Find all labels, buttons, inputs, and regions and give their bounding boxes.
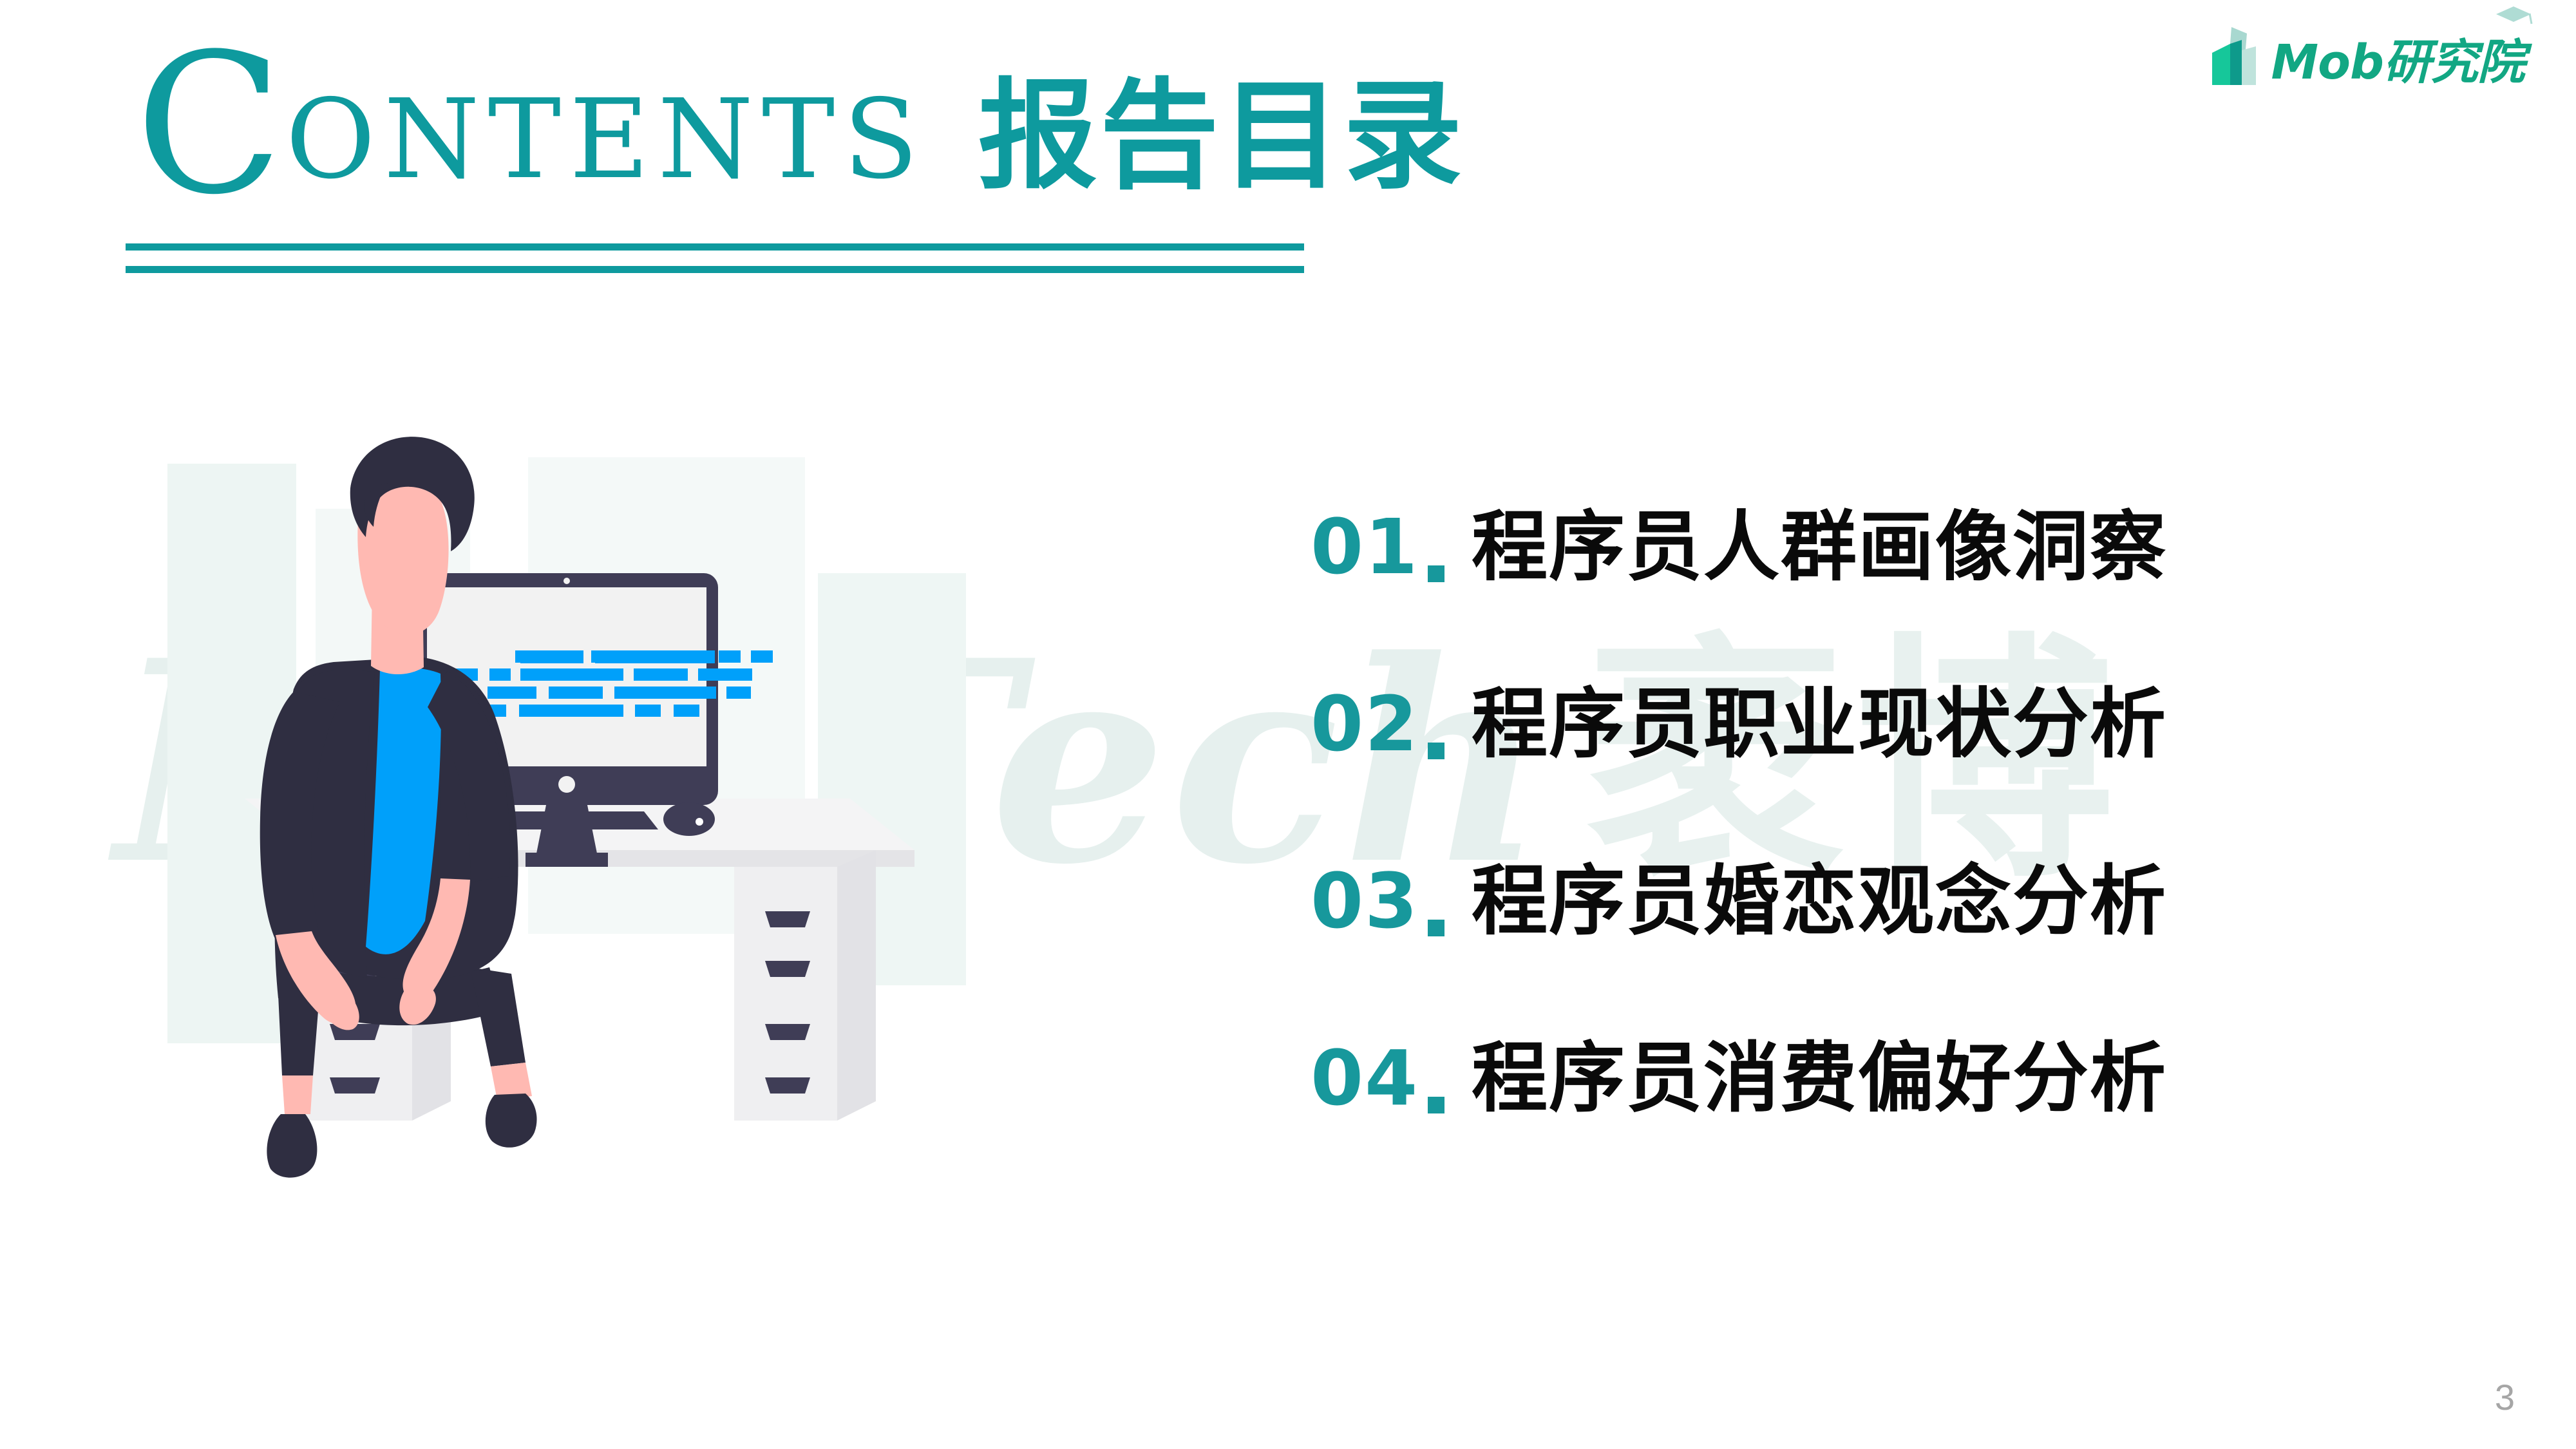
slide-root: MobTech 袤博 C ONTENTS 报告目录 Mob研究院 — [0, 0, 2576, 1449]
page-title: C ONTENTS 报告目录 — [135, 35, 1465, 196]
divider-line-top — [126, 243, 1304, 251]
toc-item-03[interactable]: 03 程序员婚恋观念分析 — [1311, 863, 2167, 1040]
toc-number-04: 04 — [1311, 1040, 1472, 1116]
title-initial-letter: C — [135, 50, 283, 200]
toc-label-02: 程序员职业现状分析 — [1472, 686, 2167, 762]
toc-item-02[interactable]: 02 程序员职业现状分析 — [1311, 686, 2167, 863]
toc-number-text-04: 04 — [1311, 1040, 1419, 1116]
toc-item-04[interactable]: 04 程序员消费偏好分析 — [1311, 1040, 2167, 1217]
toc-label-04: 程序员消费偏好分析 — [1472, 1040, 2167, 1116]
developer-illustration — [167, 412, 1082, 1217]
logo-text: Mob研究院 — [2271, 39, 2524, 86]
title-divider — [126, 243, 1304, 273]
divider-line-bottom — [126, 266, 1304, 273]
toc-item-01[interactable]: 01 程序员人群画像洞察 — [1311, 509, 2167, 686]
title-cjk: 报告目录 — [978, 77, 1465, 196]
table-of-contents: 01 程序员人群画像洞察 02 程序员职业现状分析 03 程序员婚恋观念分析 0… — [1311, 509, 2167, 1217]
graduation-cap-icon — [2494, 5, 2533, 27]
toc-separator-dot-02 — [1428, 743, 1444, 759]
toc-number-text-03: 03 — [1311, 863, 1419, 939]
page-number: 3 — [2495, 1376, 2515, 1418]
toc-label-03: 程序员婚恋观念分析 — [1472, 863, 2167, 939]
toc-label-01: 程序员人群画像洞察 — [1472, 509, 2167, 585]
toc-number-text-01: 01 — [1311, 509, 1419, 585]
mob-bars-logo-icon — [2204, 24, 2260, 86]
toc-separator-dot-03 — [1428, 920, 1444, 936]
toc-number-03: 03 — [1311, 863, 1472, 939]
toc-number-01: 01 — [1311, 509, 1472, 585]
brand-logo: Mob研究院 — [2204, 24, 2524, 86]
toc-number-02: 02 — [1311, 686, 1472, 762]
toc-separator-dot-04 — [1428, 1097, 1444, 1113]
toc-number-text-02: 02 — [1311, 686, 1419, 762]
title-rest-letters: ONTENTS — [286, 85, 927, 194]
toc-separator-dot-01 — [1428, 565, 1444, 582]
